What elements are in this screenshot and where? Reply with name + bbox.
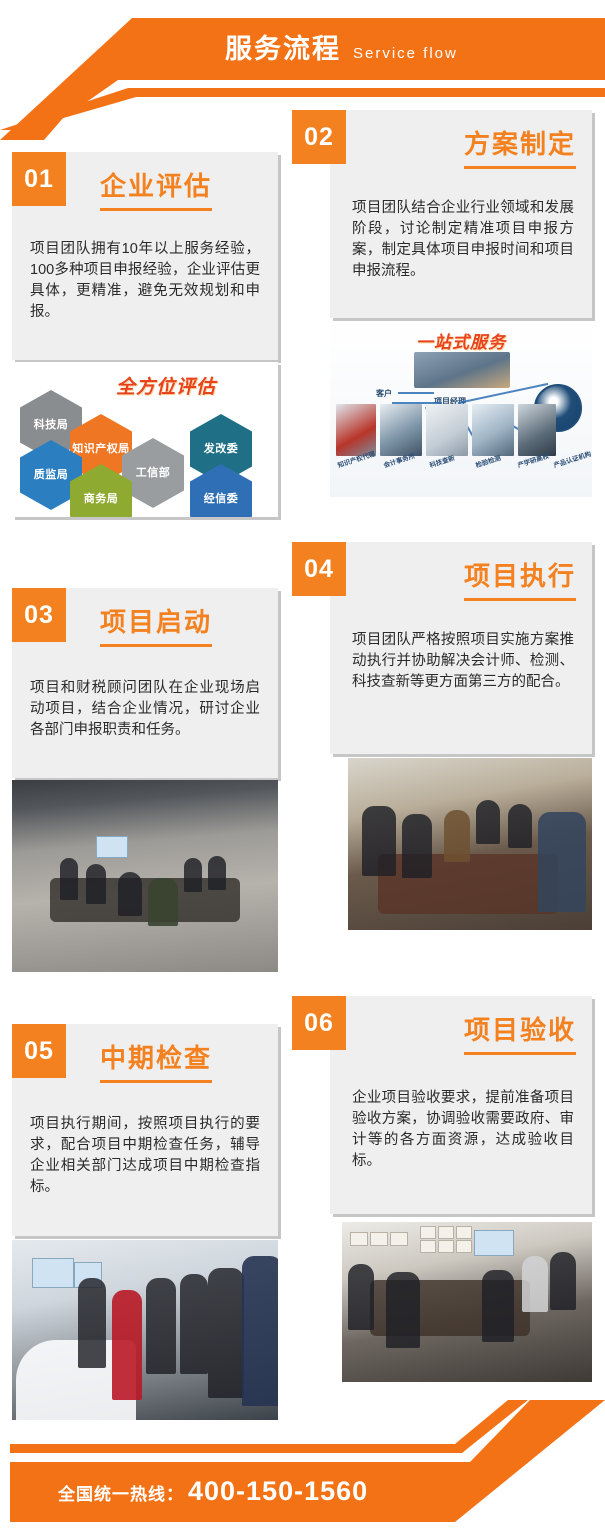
- step-title-group: 项目启动: [100, 602, 212, 647]
- photo-person: [86, 864, 106, 904]
- photo-person: [386, 1272, 420, 1348]
- photo-person: [444, 810, 470, 862]
- photo-wall-frame: [456, 1226, 472, 1239]
- hotline-group: 全国统一热线： 400-150-1560: [58, 1476, 368, 1507]
- header-title-group: 服务流程 Service flow: [225, 27, 458, 66]
- photo-whiteboard: [96, 836, 128, 858]
- step-title-group: 方案制定: [464, 124, 576, 169]
- page-header: 服务流程 Service flow: [0, 0, 605, 108]
- step-card-04: 04 项目执行 项目团队严格按照项目实施方案推动执行并协助解决会计师、检测、科技…: [330, 542, 592, 754]
- step-title-group: 项目验收: [464, 1010, 576, 1055]
- service-meeting-photo: [414, 352, 510, 388]
- photo-person: [348, 1264, 374, 1330]
- step-card-01: 01 企业评估 项目团队拥有10年以上服务经验，100多种项目申报经验，企业评估…: [12, 152, 278, 360]
- photo-person: [148, 878, 178, 926]
- photo-person: [78, 1278, 106, 1368]
- hotline-label: 全国统一热线：: [58, 1480, 184, 1505]
- step-number-badge: 06: [292, 996, 346, 1050]
- photo-person: [550, 1252, 576, 1310]
- step-description: 项目团队结合企业行业领域和发展阶段，讨论制定精准项目申报方案，制定具体项目申报时…: [352, 198, 574, 282]
- photo-person: [242, 1256, 278, 1406]
- step-title-group: 中期检查: [100, 1038, 212, 1083]
- service-node-customer: 客户: [376, 388, 392, 399]
- step-card-02: 02 方案制定 项目团队结合企业行业领域和发展阶段，讨论制定精准项目申报方案，制…: [330, 110, 592, 318]
- step5-photo: [12, 1240, 278, 1420]
- step-title: 项目执行: [464, 556, 576, 593]
- step-title: 企业评估: [100, 166, 212, 203]
- step-title: 项目启动: [100, 602, 212, 639]
- step-description: 项目团队严格按照项目实施方案推动执行并协助解决会计师、检测、科技查新等更方面第三…: [352, 630, 574, 693]
- service-label-certification: 产品认证机构: [552, 448, 592, 470]
- photo-person: [146, 1278, 176, 1374]
- photo-wall-frame: [420, 1226, 436, 1239]
- photo-person: [362, 806, 396, 876]
- page-title: 服务流程: [225, 27, 341, 66]
- photo-person: [184, 858, 202, 892]
- step-title-group: 企业评估: [100, 166, 212, 211]
- step-description: 项目执行期间，按照项目执行的要求，配合项目中期检查任务，辅导企业相关部门达成项目…: [30, 1114, 260, 1198]
- photo-display-screen: [32, 1258, 74, 1288]
- step4-photo: [348, 758, 592, 930]
- step-card-03: 03 项目启动 项目和财税顾问团队在企业现场启动项目，结合企业情况，研讨企业各部…: [12, 588, 278, 778]
- step-number-badge: 04: [292, 542, 346, 596]
- assessment-hexagon-panel: 全方位评估 科技局 知识产权局 质监局 工信部 商务局 发改委 经信委: [12, 362, 278, 517]
- service-thumb-testing: [472, 404, 514, 456]
- title-underline: [100, 644, 212, 647]
- step6-photo: [342, 1222, 592, 1382]
- hexagon-diagram-title: 全方位评估: [116, 372, 216, 399]
- photo-wall-frame: [350, 1232, 368, 1246]
- photo-person: [476, 800, 500, 844]
- step-description: 项目团队拥有10年以上服务经验，100多种项目申报经验，企业评估更具体，更精准，…: [30, 239, 260, 323]
- title-underline: [464, 1052, 576, 1055]
- photo-wall-frame: [390, 1232, 408, 1246]
- photo-person: [208, 1268, 244, 1398]
- photo-person: [112, 1290, 142, 1400]
- step-number-badge: 01: [12, 152, 66, 206]
- photo-projector-screen: [474, 1230, 514, 1256]
- photo-person: [180, 1274, 208, 1374]
- photo-person: [538, 812, 586, 912]
- step-description: 项目和财税顾问团队在企业现场启动项目，结合企业情况，研讨企业各部门申报职责和任务…: [30, 678, 260, 741]
- photo-person: [60, 858, 78, 900]
- hexagon-node-jingxinwei: 经信委: [190, 464, 252, 517]
- photo-person: [402, 814, 432, 878]
- title-underline: [100, 1080, 212, 1083]
- step-title: 项目验收: [464, 1010, 576, 1047]
- photo-wall-frame: [456, 1240, 472, 1253]
- step-card-06: 06 项目验收 企业项目验收要求，提前准备项目验收方案，协调验收需要政府、审计等…: [330, 996, 592, 1214]
- title-underline: [464, 166, 576, 169]
- photo-person: [522, 1256, 548, 1312]
- photo-wall-frame: [420, 1240, 436, 1253]
- step-number-badge: 05: [12, 1024, 66, 1078]
- page-footer: 全国统一热线： 400-150-1560: [0, 1400, 605, 1538]
- step-number-badge: 02: [292, 110, 346, 164]
- photo-person: [208, 856, 226, 890]
- photo-person: [118, 872, 142, 916]
- photo-wall-frame: [438, 1240, 454, 1253]
- service-thumb-university: [518, 404, 556, 456]
- photo-person: [482, 1270, 514, 1342]
- service-thumb-research: [426, 404, 468, 456]
- photo-working-meeting: [348, 758, 592, 930]
- step-number-badge: 03: [12, 588, 66, 642]
- photo-conference-room: [12, 780, 278, 972]
- step-title: 方案制定: [464, 124, 576, 161]
- one-stop-service-diagram: 一站式服务 客户 项目经理 知识产权代理 会计事务所 科技查新 检验检测 产学研…: [330, 322, 592, 497]
- page-subtitle: Service flow: [353, 45, 458, 62]
- service-diagram-canvas: 一站式服务 客户 项目经理 知识产权代理 会计事务所 科技查新 检验检测 产学研…: [330, 322, 592, 497]
- photo-site-inspection: [12, 1240, 278, 1420]
- footer-banner-band: [0, 1400, 605, 1538]
- step-title: 中期检查: [100, 1038, 212, 1075]
- hotline-number[interactable]: 400-150-1560: [188, 1476, 368, 1507]
- photo-wall-frame: [370, 1232, 388, 1246]
- step-description: 企业项目验收要求，提前准备项目验收方案，协调验收需要政府、审计等的各方面资源，达…: [352, 1088, 574, 1172]
- photo-person: [508, 804, 532, 848]
- service-thumb-accounting: [380, 404, 422, 456]
- photo-acceptance-meeting: [342, 1222, 592, 1382]
- step-card-05: 05 中期检查 项目执行期间，按照项目执行的要求，配合项目中期检查任务，辅导企业…: [12, 1024, 278, 1236]
- title-underline: [100, 208, 212, 211]
- service-diagram-title: 一站式服务: [330, 328, 592, 353]
- step3-photo: [12, 780, 278, 972]
- photo-wall-frame: [438, 1226, 454, 1239]
- title-underline: [464, 598, 576, 601]
- service-arrow-1: [398, 392, 434, 394]
- step-title-group: 项目执行: [464, 556, 576, 601]
